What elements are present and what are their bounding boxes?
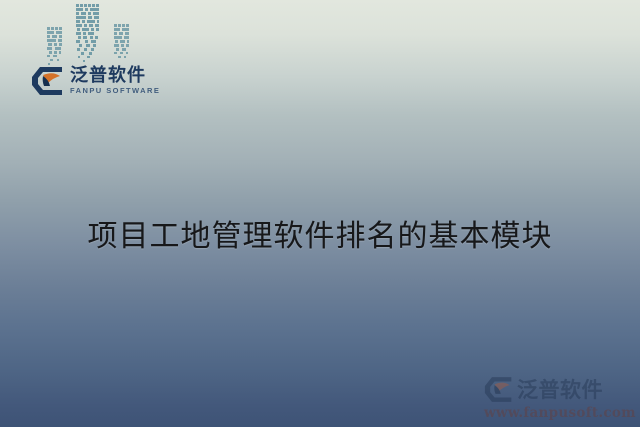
company-name-en: FANPU SOFTWARE (70, 87, 160, 95)
company-name-cn: 泛普软件 (70, 67, 160, 85)
header-logo-text: 泛普软件 FANPU SOFTWARE (70, 67, 160, 95)
watermark-logo-row: 泛普软件 (484, 374, 632, 404)
watermark-company-name: 泛普软件 (517, 374, 603, 404)
page-title: 项目工地管理软件排名的基本模块 (0, 211, 640, 255)
fanpu-hexagon-swoosh-logo-icon (484, 376, 514, 403)
watermark: 泛普软件 www.fanpusoft.com (484, 374, 632, 421)
watermark-url: www.fanpusoft.com (484, 405, 632, 421)
slide-canvas: 泛普软件 FANPU SOFTWARE 项目工地管理软件排名的基本模块 泛普软件… (0, 0, 640, 427)
fanpu-hexagon-swoosh-logo-icon (31, 66, 65, 96)
pixel-city-skyline-icon (45, 0, 145, 70)
header-logo: 泛普软件 FANPU SOFTWARE (31, 66, 160, 96)
